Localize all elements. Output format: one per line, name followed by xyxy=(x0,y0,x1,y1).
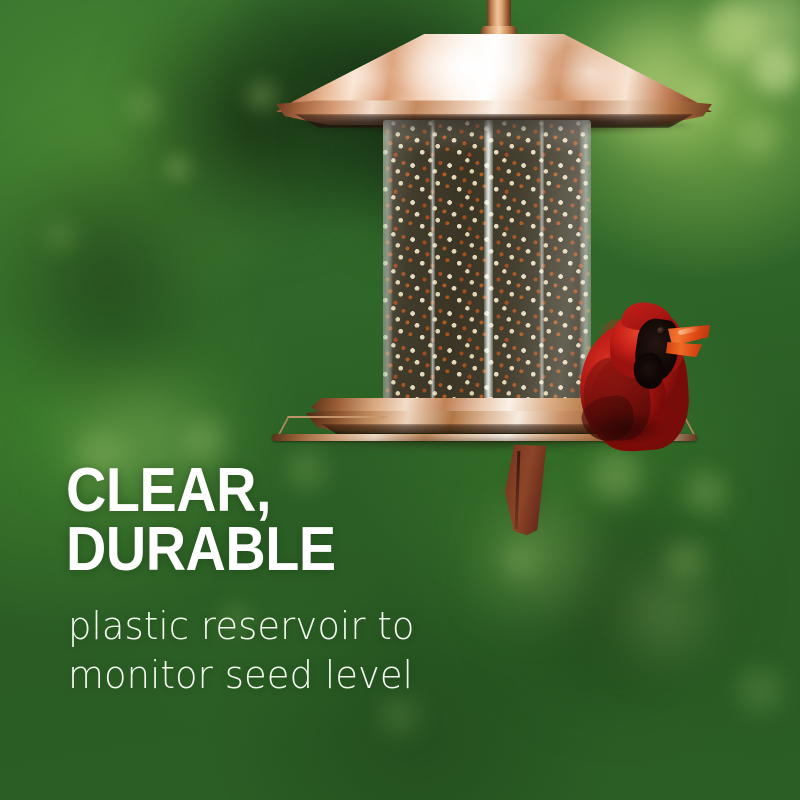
headline-text: CLEAR, DURABLE xyxy=(66,462,336,580)
marketing-text-overlay: CLEAR, DURABLE plastic reservoir to moni… xyxy=(0,0,800,800)
product-photo-scene: CLEAR, DURABLE plastic reservoir to moni… xyxy=(0,0,800,800)
subhead-text: plastic reservoir to monitor seed level xyxy=(68,602,415,699)
